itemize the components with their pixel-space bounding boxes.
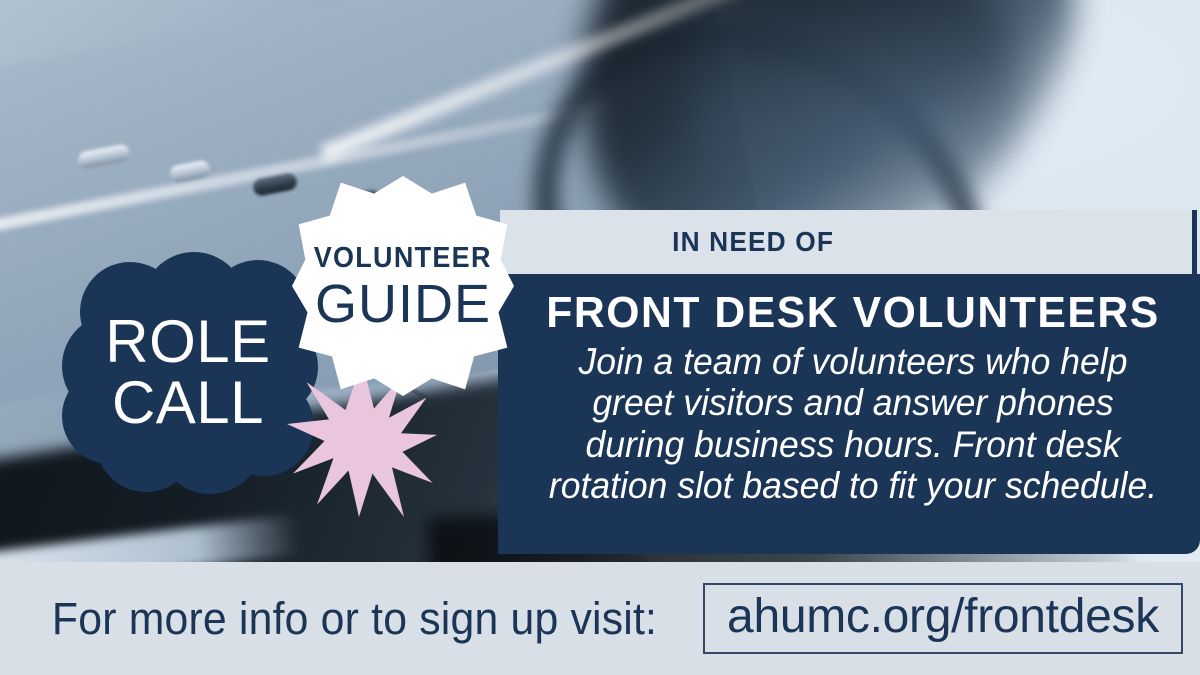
cta-label: For more info or to sign up visit:: [52, 593, 657, 645]
guide-badge-bottom-line: GUIDE: [315, 277, 491, 331]
guide-badge-top-line: VOLUNTEER: [314, 242, 492, 275]
role-call-text: ROLE CALL: [62, 252, 318, 494]
panel-header-bar: IN NEED OF: [500, 210, 1197, 274]
panel-title: FRONT DESK VOLUNTEERS: [538, 290, 1169, 337]
panel-header-right-edge: [1192, 210, 1197, 274]
role-call-line-1: ROLE: [105, 313, 270, 372]
role-call-badge: ROLE CALL: [62, 252, 318, 494]
panel-description: Join a team of volunteers who help greet…: [546, 341, 1160, 507]
panel-header-label: IN NEED OF: [673, 226, 835, 258]
role-call-volunteer-poster: ROLE CALL VOLUNTEER GUIDE IN NEED OF FRO…: [0, 0, 1200, 675]
panel-body: FRONT DESK VOLUNTEERS Join a team of vol…: [498, 274, 1200, 554]
role-call-line-2: CALL: [112, 374, 264, 433]
cta-url-box[interactable]: ahumc.org/frontdesk: [703, 583, 1183, 655]
cta-bar: For more info or to sign up visit: ahumc…: [0, 562, 1200, 675]
